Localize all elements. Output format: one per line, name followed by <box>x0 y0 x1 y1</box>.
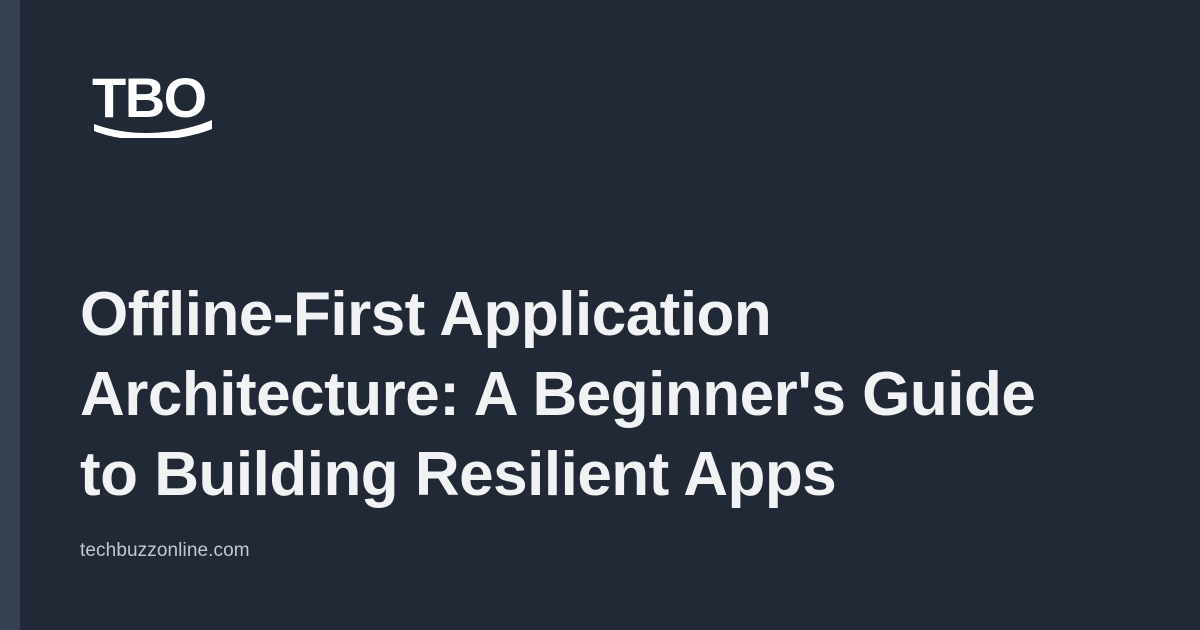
left-accent-strip <box>0 0 20 630</box>
swoosh-underline-icon <box>94 118 212 138</box>
headline-line-3: to Building Resilient Apps <box>80 435 1090 515</box>
page-title: Offline-First Application Architecture: … <box>80 275 1090 515</box>
headline-line-2: Architecture: A Beginner's Guide <box>80 355 1090 435</box>
brand-logo[interactable]: TBO <box>92 70 212 136</box>
headline-line-1: Offline-First Application <box>80 275 1090 355</box>
share-card: TBO Offline-First Application Architectu… <box>0 0 1200 630</box>
site-domain: techbuzzonline.com <box>80 538 250 564</box>
